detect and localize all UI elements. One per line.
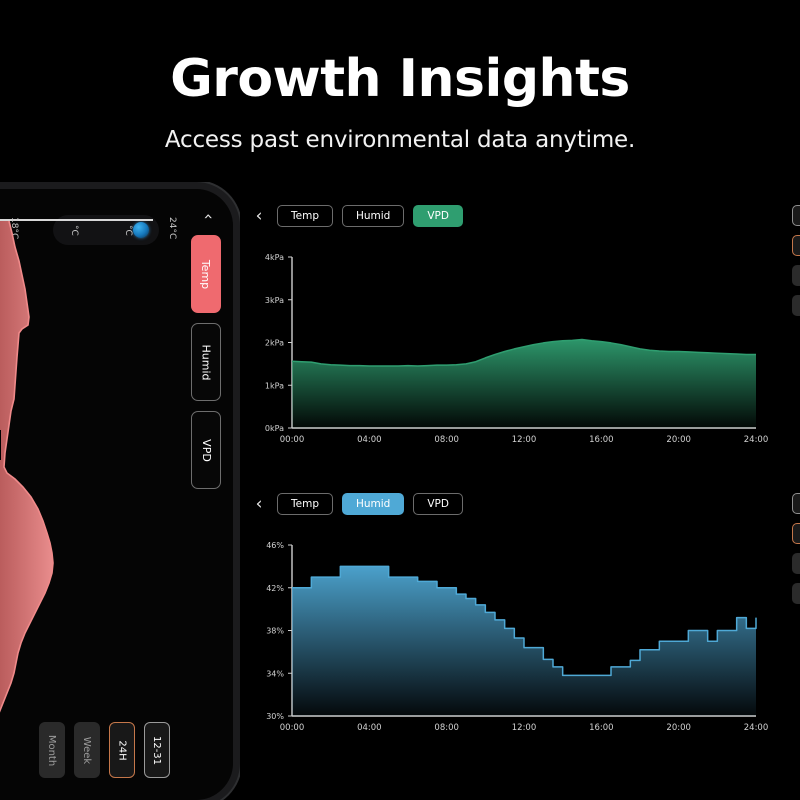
vpd-range-week[interactable]: Week <box>792 265 800 286</box>
vpd-chart: 0kPa1kPa2kPa3kPa4kPa00:0004:0008:0012:00… <box>252 249 762 454</box>
svg-text:38%: 38% <box>266 627 284 636</box>
phone-temp-chart <box>0 221 121 746</box>
phone-range-date[interactable]: 12-31 <box>144 722 170 778</box>
phone-mockup: 18°C °C °C 24°C <box>0 182 240 800</box>
phone-axis-label-3: 24°C <box>167 217 177 239</box>
page-header: Growth Insights Access past environmenta… <box>0 0 800 153</box>
humid-tab-row: ‹ Temp Humid VPD <box>252 493 463 515</box>
humidity-chart: 30%34%38%42%46%00:0004:0008:0012:0016:00… <box>252 537 762 742</box>
vpd-tab-row: ‹ Temp Humid VPD <box>252 205 463 227</box>
svg-text:24:00: 24:00 <box>744 723 769 733</box>
vpd-tab-humid[interactable]: Humid <box>342 205 404 227</box>
svg-text:08:00: 08:00 <box>434 435 459 445</box>
svg-text:1kPa: 1kPa <box>265 381 284 390</box>
vpd-tab-vpd[interactable]: VPD <box>413 205 463 227</box>
svg-text:0kPa: 0kPa <box>265 424 284 433</box>
svg-text:12:00: 12:00 <box>512 723 537 733</box>
phone-range-month[interactable]: Month <box>39 722 65 778</box>
phone-screen: 18°C °C °C 24°C <box>0 189 233 800</box>
svg-text:12:00: 12:00 <box>512 435 537 445</box>
vpd-tab-temp[interactable]: Temp <box>277 205 333 227</box>
svg-text:20:00: 20:00 <box>666 723 691 733</box>
phone-range-week-label: Week <box>82 736 93 763</box>
phone-tab-vpd-label: VPD <box>199 439 212 462</box>
humid-range-week[interactable]: Week <box>792 553 800 574</box>
svg-text:34%: 34% <box>266 669 284 678</box>
svg-text:3kPa: 3kPa <box>265 296 284 305</box>
screenshot-root: Growth Insights Access past environmenta… <box>0 0 800 800</box>
phone-edge-mask <box>0 430 1 460</box>
svg-text:2kPa: 2kPa <box>265 339 284 348</box>
phone-range-group: Month Week 24H 12-31 <box>39 722 170 778</box>
phone-range-month-label: Month <box>47 734 58 765</box>
humid-back-chevron-icon[interactable]: ‹ <box>252 494 266 514</box>
svg-text:16:00: 16:00 <box>589 435 614 445</box>
phone-tab-group: Temp Humid VPD <box>191 235 221 489</box>
phone-range-24h[interactable]: 24H <box>109 722 135 778</box>
vpd-back-chevron-icon[interactable]: ‹ <box>252 206 266 226</box>
svg-text:04:00: 04:00 <box>357 435 382 445</box>
phone-tab-humid-label: Humid <box>200 344 213 380</box>
svg-text:4kPa: 4kPa <box>265 253 284 262</box>
phone-range-week[interactable]: Week <box>74 722 100 778</box>
svg-text:20:00: 20:00 <box>666 435 691 445</box>
phone-range-24h-label: 24H <box>117 740 128 760</box>
humid-tab-vpd[interactable]: VPD <box>413 493 463 515</box>
humid-range-date[interactable]: 12-31 <box>792 493 800 514</box>
phone-tab-vpd[interactable]: VPD <box>191 411 221 489</box>
phone-tab-humid[interactable]: Humid <box>191 323 221 401</box>
humid-range-group: 12-31 24H Week Month <box>792 493 800 604</box>
svg-text:46%: 46% <box>266 541 284 550</box>
svg-text:04:00: 04:00 <box>357 723 382 733</box>
page-title: Growth Insights <box>0 52 800 107</box>
humid-range-24h[interactable]: 24H <box>792 523 800 544</box>
phone-tab-temp[interactable]: Temp <box>191 235 221 313</box>
front-camera-icon <box>133 222 149 238</box>
humid-tab-humid[interactable]: Humid <box>342 493 404 515</box>
vpd-range-month[interactable]: Month <box>792 295 800 316</box>
vpd-range-date[interactable]: 12-31 <box>792 205 800 226</box>
phone-range-date-label: 12-31 <box>152 735 163 764</box>
svg-text:08:00: 08:00 <box>434 723 459 733</box>
svg-text:30%: 30% <box>266 712 284 721</box>
humid-tab-temp[interactable]: Temp <box>277 493 333 515</box>
phone-back-chevron-icon[interactable]: ‹ <box>199 213 218 219</box>
page-subtitle: Access past environmental data anytime. <box>0 127 800 153</box>
vpd-chart-area <box>292 340 756 428</box>
vpd-panel: ‹ Temp Humid VPD 12-31 24H Week Month 0k… <box>252 205 792 455</box>
svg-text:00:00: 00:00 <box>280 723 305 733</box>
svg-text:42%: 42% <box>266 584 284 593</box>
phone-body: 18°C °C °C 24°C <box>0 182 240 800</box>
svg-text:16:00: 16:00 <box>589 723 614 733</box>
vpd-range-24h[interactable]: 24H <box>792 235 800 256</box>
vpd-range-group: 12-31 24H Week Month <box>792 205 800 316</box>
humid-panel: ‹ Temp Humid VPD 12-31 24H Week Month 30… <box>252 493 792 743</box>
svg-text:00:00: 00:00 <box>280 435 305 445</box>
phone-tab-temp-label: Temp <box>200 259 213 288</box>
humid-range-month[interactable]: Month <box>792 583 800 604</box>
svg-text:24:00: 24:00 <box>744 435 769 445</box>
